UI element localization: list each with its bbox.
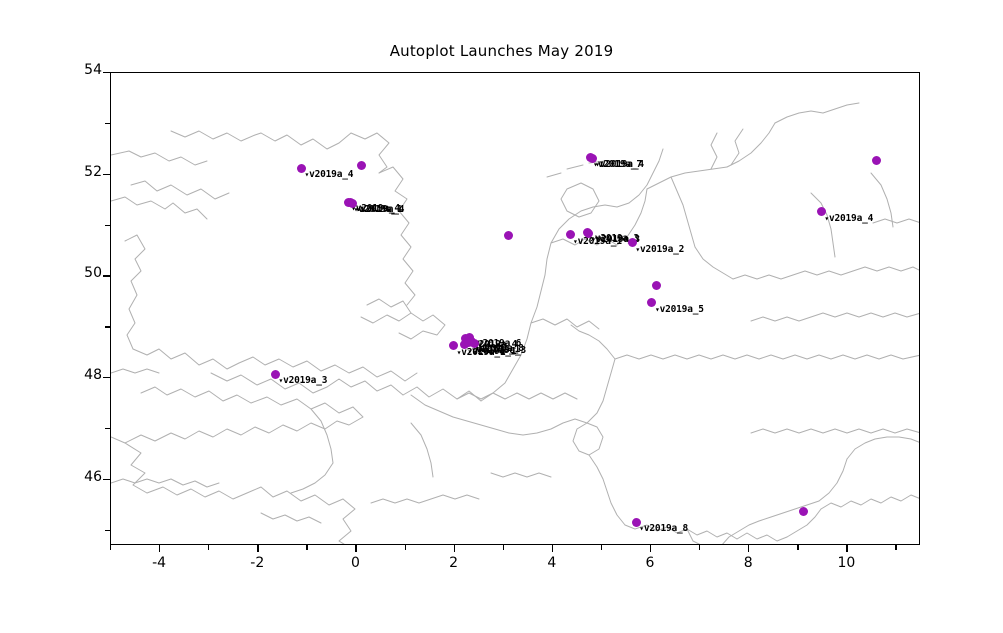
data-point-label: ▾v2019a_4 <box>595 159 644 170</box>
x-axis-tick-label: 4 <box>522 555 582 571</box>
label-text: v2019a_5 <box>660 304 704 315</box>
label-text: v2019a_4 <box>600 159 644 170</box>
label-text: v2019a_4 <box>309 169 353 180</box>
data-point-marker <box>872 156 881 165</box>
x-axis-minor-tick <box>699 545 700 550</box>
data-point-marker <box>652 281 661 290</box>
data-point-label: ▾v2019a_4 <box>356 204 405 215</box>
y-axis-tick <box>103 72 110 73</box>
x-axis-minor-tick <box>601 545 602 550</box>
x-axis-tick <box>552 545 553 552</box>
x-axis-tick <box>159 545 160 552</box>
y-axis-tick <box>103 377 110 378</box>
x-axis-minor-tick <box>895 545 896 550</box>
x-axis-tick <box>454 545 455 552</box>
data-point-label: ▾v2019a_1 <box>467 346 516 357</box>
data-point-marker <box>799 507 808 516</box>
x-axis-minor-tick <box>797 545 798 550</box>
x-axis-tick <box>748 545 749 552</box>
page-title: Autoplot Launches May 2019 <box>0 42 1003 60</box>
x-axis-minor-tick <box>503 545 504 550</box>
x-axis-tick-label: 10 <box>816 555 876 571</box>
data-point-label: ▾v2019a_5 <box>655 304 704 315</box>
y-axis-minor-tick <box>105 123 110 124</box>
y-axis-tick-label: 52 <box>52 164 102 180</box>
x-axis-tick-label: 8 <box>718 555 778 571</box>
data-point-label: ▾v2019a_2 <box>635 244 684 255</box>
x-axis-tick-label: -4 <box>129 555 189 571</box>
label-text: v2019a_2 <box>640 244 684 255</box>
data-point-label: ▾v2019a_8 <box>639 523 688 534</box>
x-axis-tick <box>257 545 258 552</box>
data-point-label: ▾v2019a_4 <box>304 169 353 180</box>
data-point-marker <box>357 161 366 170</box>
y-axis-minor-tick <box>105 530 110 531</box>
x-axis-tick-label: -2 <box>227 555 287 571</box>
y-axis-tick-label: 46 <box>52 469 102 485</box>
x-axis-tick-label: 6 <box>620 555 680 571</box>
y-axis-minor-tick <box>105 326 110 327</box>
data-point-marker <box>504 231 513 240</box>
figure-canvas: Autoplot Launches May 2019 <box>0 0 1003 633</box>
y-axis-tick-label: 54 <box>52 62 102 78</box>
label-text: v2019a_4 <box>360 204 404 215</box>
x-axis-minor-tick <box>306 545 307 550</box>
x-axis-tick <box>846 545 847 552</box>
y-axis-minor-tick <box>105 428 110 429</box>
x-axis-tick-label: 0 <box>325 555 385 571</box>
y-axis-minor-tick <box>105 225 110 226</box>
x-axis-tick <box>355 545 356 552</box>
x-axis-tick-label: 2 <box>424 555 484 571</box>
label-text: v2019a_3 <box>283 375 327 386</box>
label-text: v2019a_1 <box>472 346 516 357</box>
data-points-layer: ▾v2019a_4▾v2019a_4▾v2019a_1▾v2019a_4▾v20… <box>111 73 920 545</box>
label-text: v2019a_4 <box>829 213 873 224</box>
label-text: v2019a_8 <box>644 523 688 534</box>
y-axis-tick-label: 50 <box>52 265 102 281</box>
x-axis-tick <box>650 545 651 552</box>
y-axis-tick <box>103 479 110 480</box>
y-axis-tick <box>103 275 110 276</box>
y-axis-tick-label: 48 <box>52 367 102 383</box>
y-axis-tick <box>103 174 110 175</box>
x-axis-minor-tick <box>208 545 209 550</box>
x-axis-minor-tick <box>110 545 111 550</box>
data-point-label: ▾v2019a_4 <box>824 213 873 224</box>
data-point-label: ▾v2019a_3 <box>278 375 327 386</box>
x-axis-minor-tick <box>405 545 406 550</box>
plot-area: ▾v2019a_4▾v2019a_4▾v2019a_1▾v2019a_4▾v20… <box>110 72 920 545</box>
